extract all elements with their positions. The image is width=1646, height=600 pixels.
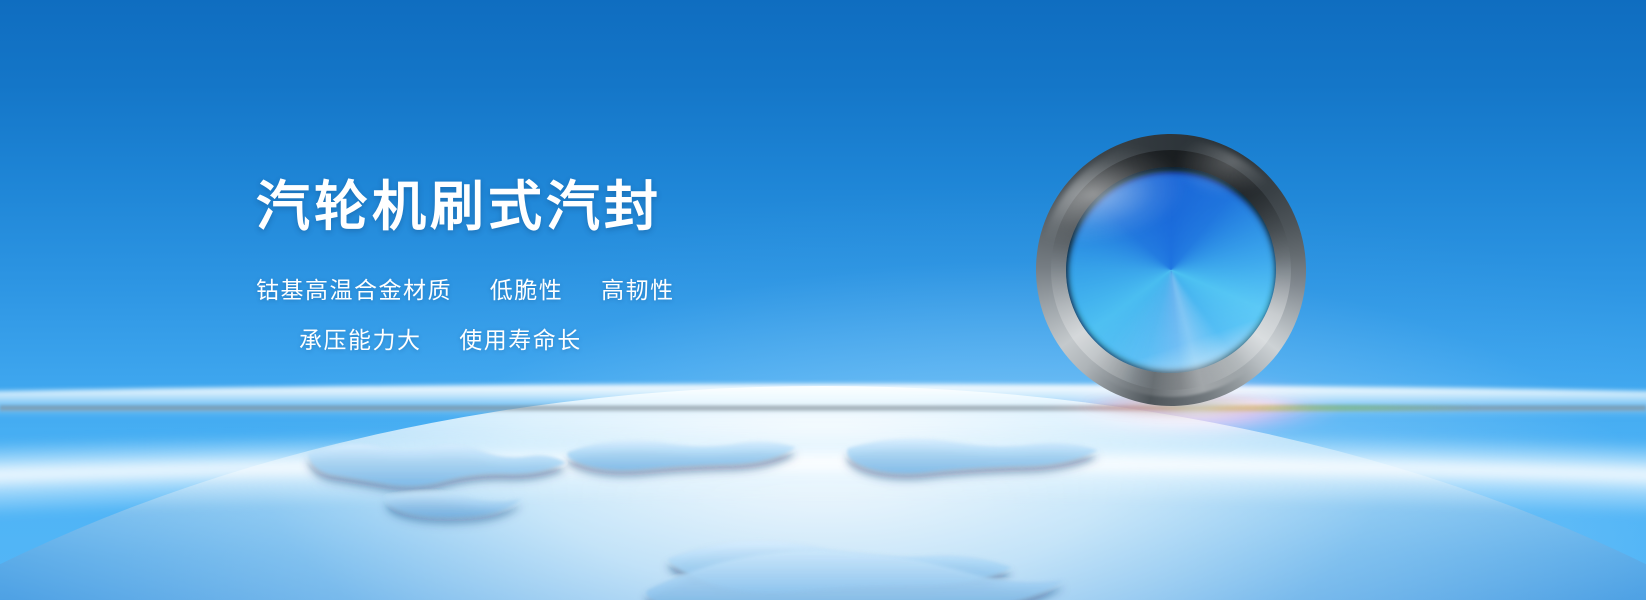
feature-line-2: 承压能力大 使用寿命长 xyxy=(299,321,582,355)
earth-surface xyxy=(0,386,1646,600)
hero-banner: 汽轮机刷式汽封 钴基高温合金材质 低脆性 高韧性 承压能力大 使用寿命长 xyxy=(0,0,1646,600)
earth-globe xyxy=(0,330,1646,600)
feature-item-high-toughness: 高韧性 xyxy=(601,277,675,303)
feature-item-pressure-capacity: 承压能力大 xyxy=(299,327,422,353)
banner-headline: 汽轮机刷式汽封 xyxy=(256,178,662,236)
product-image-brush-seal-ring xyxy=(1020,119,1321,422)
feature-item-long-life: 使用寿命长 xyxy=(459,327,582,353)
feature-item-material: 钴基高温合金材质 xyxy=(256,277,452,303)
feature-item-low-brittleness: 低脆性 xyxy=(490,277,564,303)
feature-line-1: 钴基高温合金材质 低脆性 高韧性 xyxy=(256,271,675,305)
